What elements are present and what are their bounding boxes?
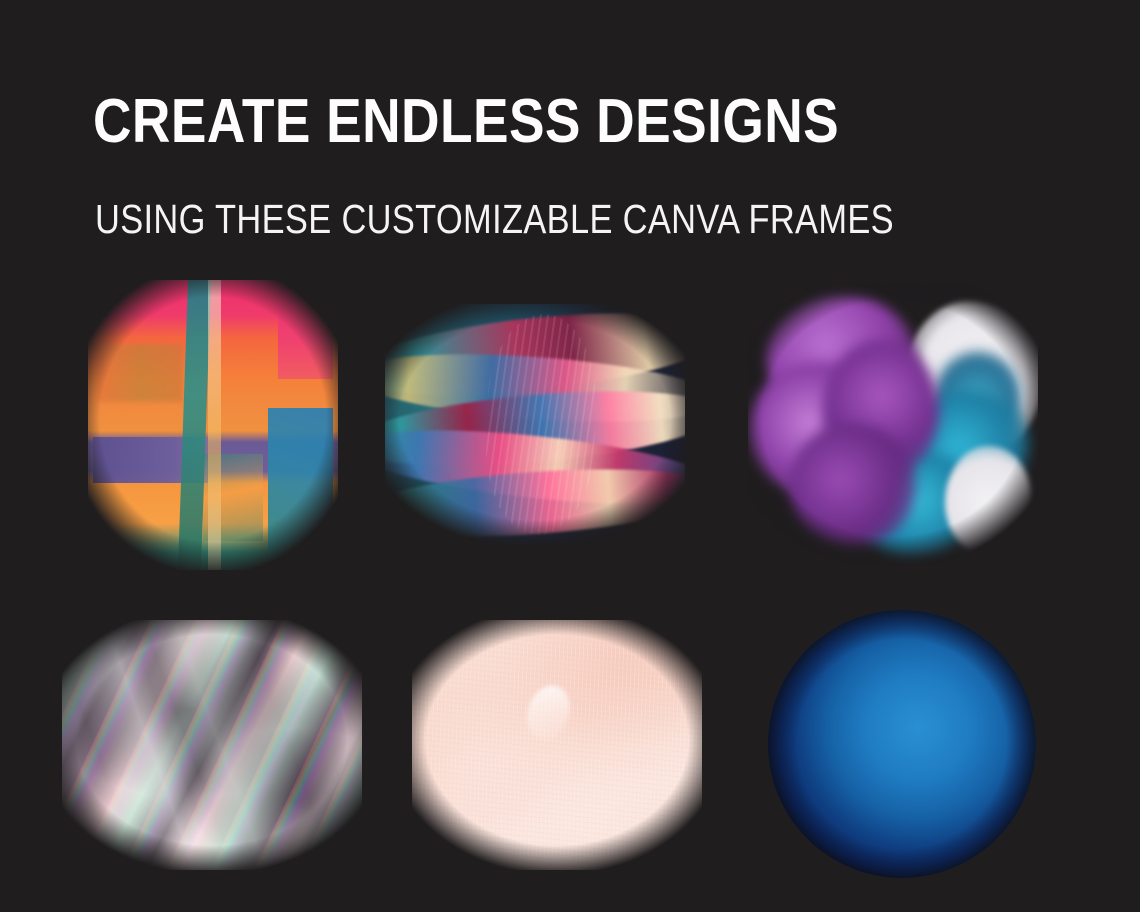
- watercolor-grain-layer: [412, 620, 702, 870]
- page-subtitle: USING THESE CUSTOMIZABLE CANVA FRAMES: [95, 196, 894, 242]
- brush-streak-pink: [278, 280, 333, 379]
- ink-purple-plume-4: [789, 424, 917, 547]
- page-title: CREATE ENDLESS DESIGNS: [93, 88, 839, 156]
- frame-gallery: [0, 262, 1140, 902]
- blush-watercolor-frame[interactable]: [412, 620, 702, 870]
- brush-streak-ochre: [98, 344, 183, 402]
- holographic-frame[interactable]: [62, 620, 362, 870]
- ink-white-patch-2: [945, 446, 1032, 558]
- ink-bloom-frame[interactable]: [748, 284, 1038, 564]
- blue-circle-frame[interactable]: [762, 604, 1042, 884]
- brush-streak-blue: [268, 408, 333, 570]
- brush-streak-cream: [208, 280, 221, 570]
- blue-disc-edge-shade: [768, 610, 1037, 879]
- poster-canvas: CREATE ENDLESS DESIGNS USING THESE CUSTO…: [0, 0, 1140, 912]
- marble-pour-frame[interactable]: [385, 304, 685, 544]
- holo-sheen-layer: [62, 620, 362, 870]
- painterly-brush-frame[interactable]: [88, 280, 338, 570]
